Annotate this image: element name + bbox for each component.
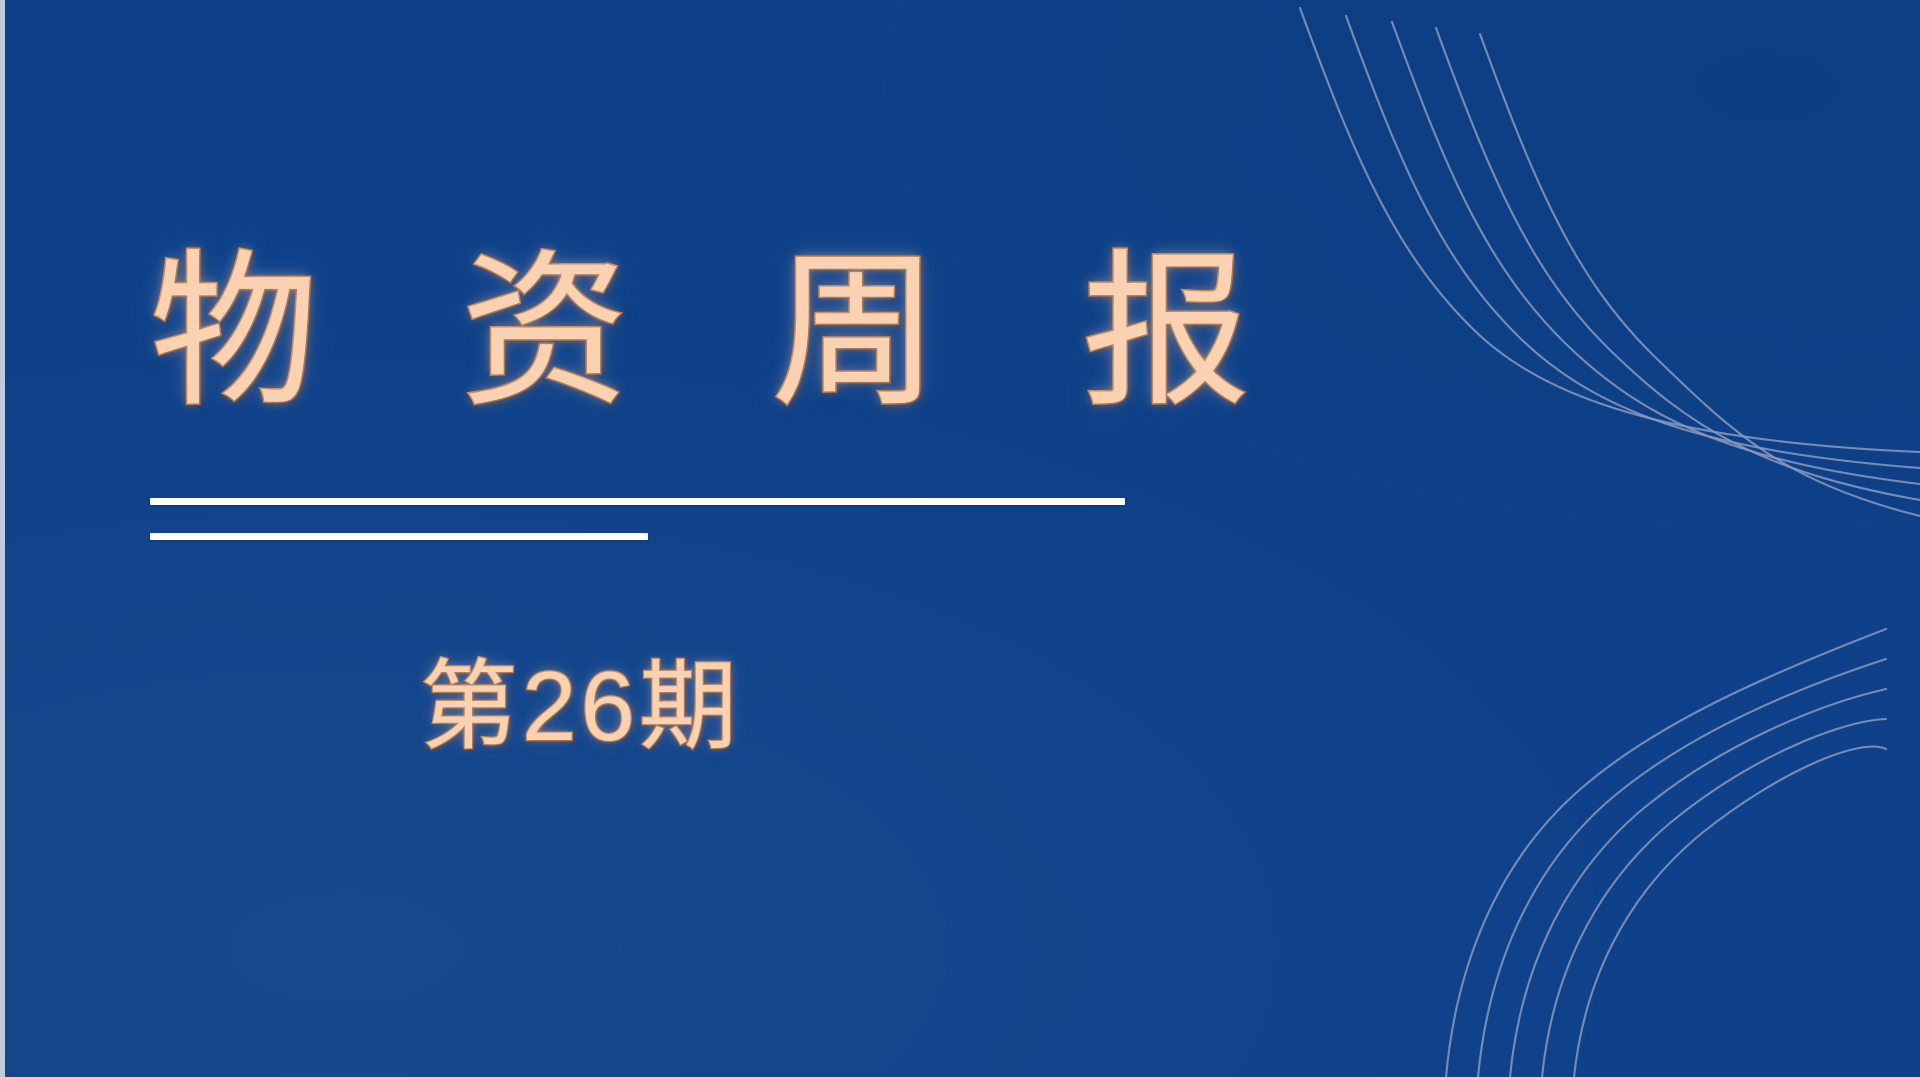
subtitle-block: 第26期 (150, 655, 1150, 758)
cover-slide: 物 资 周 报 第26期 (0, 0, 1920, 1077)
page-title: 物 资 周 报 (150, 248, 1250, 416)
title-underline-long (150, 498, 1125, 505)
title-underline-group (150, 498, 1150, 540)
wave-lines-top-right-icon (1260, 0, 1920, 520)
left-edge-strip (0, 0, 5, 1077)
title-block: 物 资 周 报 (150, 248, 1250, 416)
wave-lines-bottom-right-icon (1260, 607, 1920, 1077)
title-underline-short (150, 533, 648, 540)
issue-label: 第26期 (150, 655, 1150, 758)
